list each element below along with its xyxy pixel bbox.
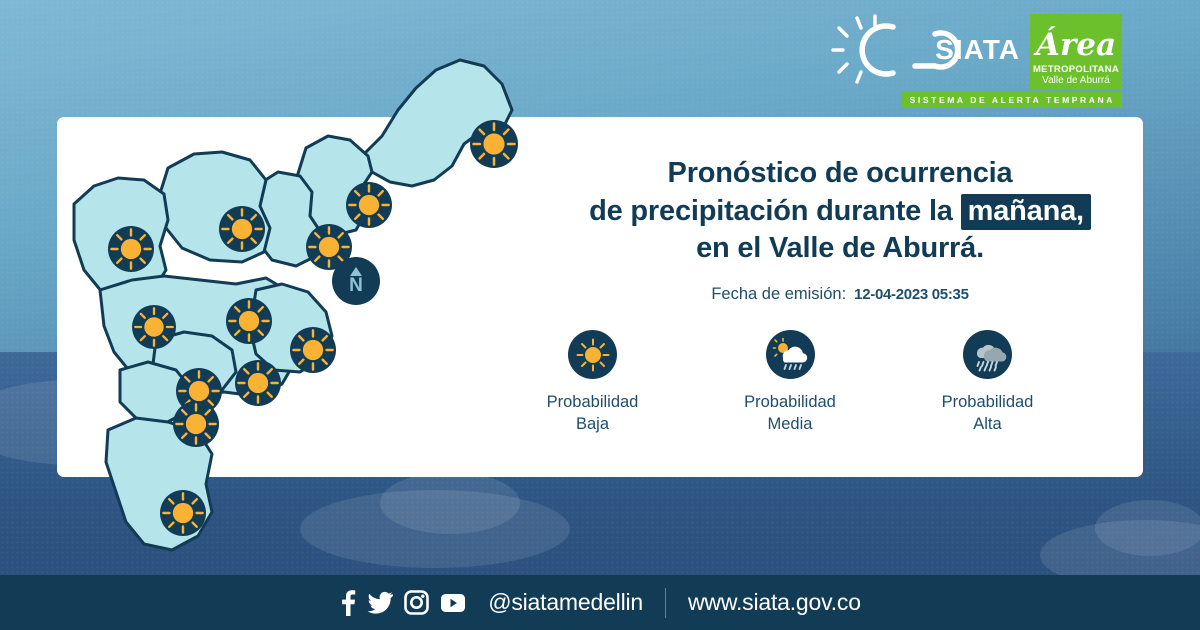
station-badge[interactable] bbox=[226, 298, 272, 344]
station-badge[interactable] bbox=[346, 182, 392, 228]
legend-baja-line1: Probabilidad bbox=[547, 393, 639, 411]
headline-highlight: mañana, bbox=[961, 194, 1091, 230]
legend-media-line2: Media bbox=[768, 415, 813, 433]
legend-baja-line2: Baja bbox=[576, 415, 609, 433]
headline-line-1: Pronóstico de ocurrencia bbox=[540, 155, 1140, 193]
social-handle[interactable]: @siatamedellin bbox=[488, 589, 643, 616]
station-badge[interactable] bbox=[219, 206, 265, 252]
emission-date-label: Fecha de emisión: bbox=[711, 285, 846, 304]
emission-date: Fecha de emisión: 12-04-2023 05:35 bbox=[540, 285, 1140, 304]
sun-rain-cloud-icon bbox=[766, 330, 815, 379]
legend-alta-line2: Alta bbox=[973, 415, 1001, 433]
legend-label-baja: Probabilidad Baja bbox=[547, 391, 639, 436]
headline-line-2-text: de precipitación durante la bbox=[589, 195, 953, 227]
tagline-banner: SISTEMA DE ALERTA TEMPRANA bbox=[901, 92, 1122, 108]
area-valle-text: Valle de Aburrá bbox=[1042, 75, 1110, 87]
legend-item-alta: Probabilidad Alta bbox=[900, 330, 1075, 436]
sun-icon bbox=[346, 182, 392, 228]
sun-icon bbox=[568, 330, 617, 379]
legend-media-line1: Probabilidad bbox=[744, 393, 836, 411]
footer-divider bbox=[665, 588, 666, 618]
instagram-icon[interactable] bbox=[404, 590, 429, 615]
station-badge[interactable] bbox=[108, 226, 154, 272]
rain-cloud-icon bbox=[963, 330, 1012, 379]
valle-de-aburra-map: N bbox=[60, 40, 530, 570]
legend-label-media: Probabilidad Media bbox=[744, 391, 836, 436]
headline-line-2: de precipitación durante la mañana, bbox=[540, 193, 1140, 231]
legend-alta-line1: Probabilidad bbox=[942, 393, 1034, 411]
station-badge[interactable] bbox=[160, 490, 206, 536]
emission-date-value: 12-04-2023 05:35 bbox=[854, 286, 968, 303]
website-url[interactable]: www.siata.gov.co bbox=[688, 589, 861, 616]
station-badge[interactable] bbox=[235, 360, 281, 406]
siata-wordmark: SIATA bbox=[935, 34, 1020, 66]
compass-north-label: N bbox=[349, 277, 363, 294]
social-links bbox=[339, 589, 466, 617]
sun-icon bbox=[470, 120, 518, 168]
station-badge[interactable] bbox=[132, 305, 176, 349]
area-script-text: Área bbox=[1036, 30, 1116, 61]
area-metropolitana-logo: Área METROPOLITANA Valle de Aburrá bbox=[1030, 14, 1122, 90]
footer-bar: @siatamedellin www.siata.gov.co bbox=[0, 575, 1200, 630]
forecast-text-block: Pronóstico de ocurrencia de precipitació… bbox=[540, 155, 1140, 304]
legend-item-media: Probabilidad Media bbox=[703, 330, 878, 436]
sun-icon bbox=[173, 401, 219, 447]
legend-label-alta: Probabilidad Alta bbox=[942, 391, 1034, 436]
siata-logo: SIATA bbox=[831, 14, 1020, 86]
sun-icon bbox=[108, 226, 154, 272]
probability-legend: Probabilidad Baja Probabilidad Media bbox=[505, 330, 1075, 436]
sun-icon bbox=[290, 327, 336, 373]
brand-logos: SIATA Área METROPOLITANA Valle de Aburrá bbox=[831, 14, 1122, 90]
sun-icon bbox=[132, 305, 176, 349]
legend-item-baja: Probabilidad Baja bbox=[505, 330, 680, 436]
twitter-icon[interactable] bbox=[367, 591, 393, 615]
station-badge[interactable] bbox=[290, 327, 336, 373]
youtube-icon[interactable] bbox=[440, 593, 466, 613]
sun-icon bbox=[160, 490, 206, 536]
headline-line-3: en el Valle de Aburrá. bbox=[540, 230, 1140, 268]
map-polygons bbox=[60, 40, 530, 570]
page-title: Pronóstico de ocurrencia de precipitació… bbox=[540, 155, 1140, 268]
north-arrow-icon: N bbox=[332, 257, 380, 305]
facebook-icon[interactable] bbox=[339, 589, 356, 617]
station-badge[interactable] bbox=[470, 120, 518, 168]
sun-icon bbox=[226, 298, 272, 344]
area-metropolitana-text: METROPOLITANA bbox=[1033, 64, 1119, 75]
sun-icon bbox=[235, 360, 281, 406]
sun-icon bbox=[219, 206, 265, 252]
station-badge[interactable] bbox=[173, 401, 219, 447]
